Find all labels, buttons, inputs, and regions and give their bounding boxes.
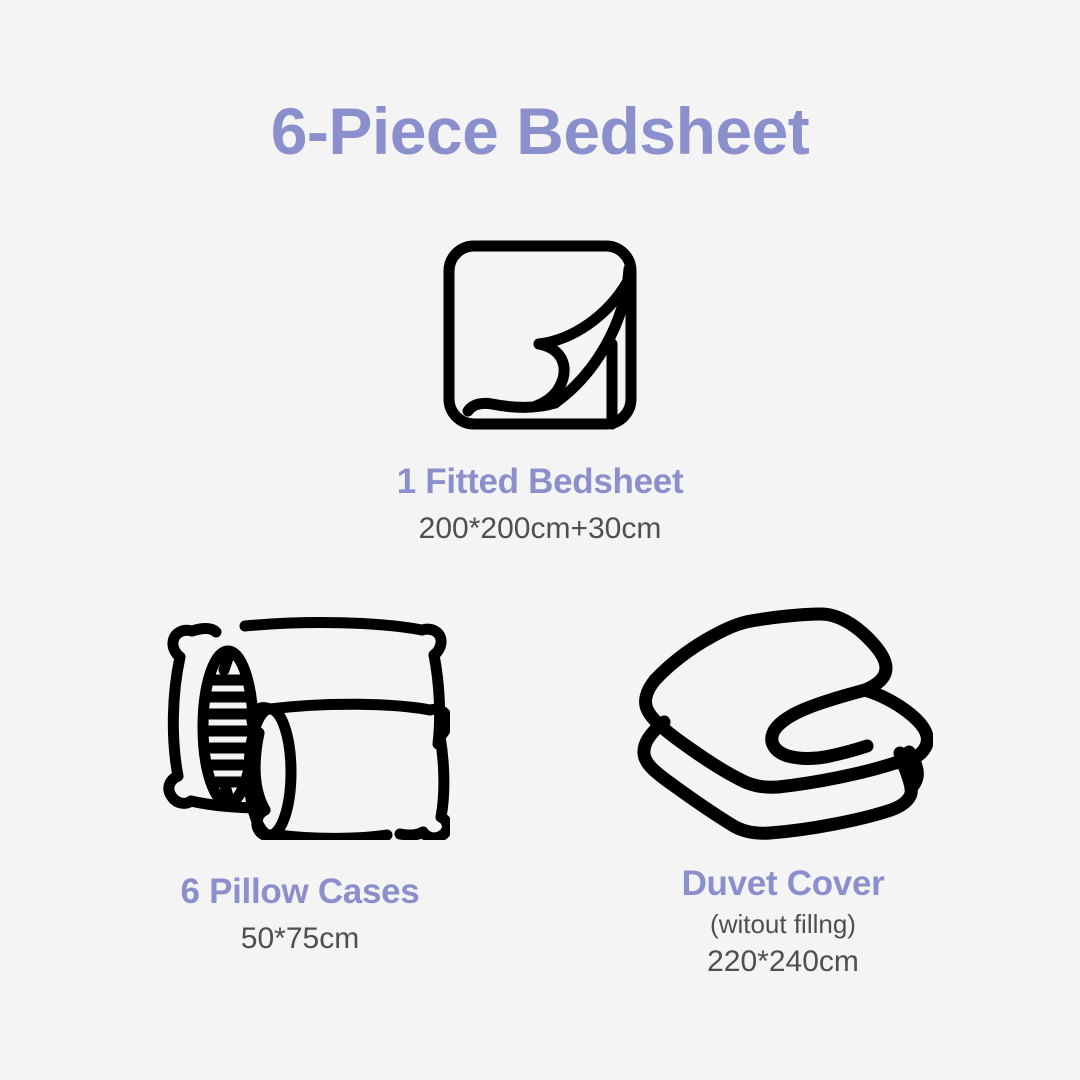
product-name: 1 Fitted Bedsheet <box>290 462 790 502</box>
product-name: 6 Pillow Cases <box>50 872 550 912</box>
product-card-fitted-bedsheet: 1 Fitted Bedsheet 200*200cm+30cm <box>290 240 790 548</box>
page-title: 6-Piece Bedsheet <box>0 98 1080 164</box>
pillow-cases-icon <box>50 612 550 842</box>
product-note: (witout fillng) <box>533 908 1033 941</box>
product-size: 220*240cm <box>533 943 1033 981</box>
fitted-bedsheet-icon <box>290 240 790 430</box>
duvet-cover-icon <box>533 600 1033 842</box>
product-size: 200*200cm+30cm <box>290 510 790 548</box>
product-card-duvet-cover: Duvet Cover (witout fillng) 220*240cm <box>533 600 1033 980</box>
product-card-pillow-cases: 6 Pillow Cases 50*75cm <box>50 612 550 958</box>
product-name: Duvet Cover <box>533 864 1033 904</box>
product-size: 50*75cm <box>50 920 550 958</box>
